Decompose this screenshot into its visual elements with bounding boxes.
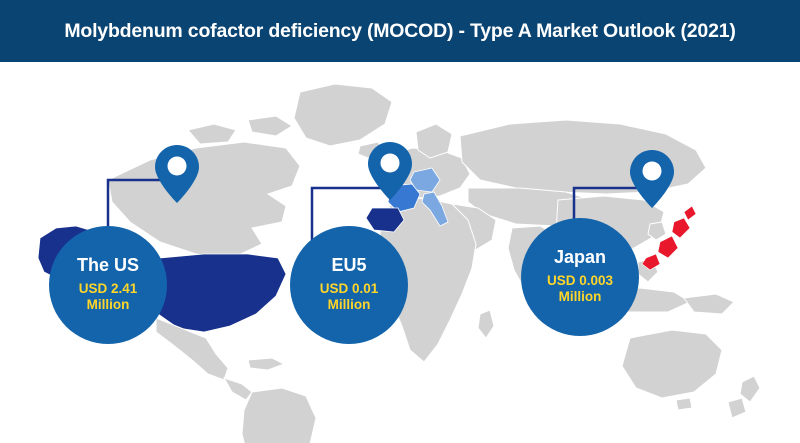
- callout-bubble-japan[interactable]: Japan USD 0.003Million: [521, 218, 639, 336]
- island-arctic-1: [188, 124, 236, 144]
- island-new-zealand: [740, 376, 760, 402]
- callout-region-label: EU5: [331, 256, 366, 276]
- infographic-root: Molybdenum cofactor deficiency (MOCOD) -…: [0, 0, 800, 443]
- continent-south-america: [242, 388, 316, 443]
- island-tasmania: [676, 398, 692, 410]
- pin-japan-icon[interactable]: [630, 150, 674, 208]
- map-stage: The US USD 2.41Million EU5 USD 0.01Milli…: [0, 62, 800, 443]
- callout-value-label: USD 2.41Million: [71, 281, 146, 315]
- region-central-america: [224, 378, 252, 400]
- country-greenland: [294, 84, 392, 146]
- pin-eu5-icon[interactable]: [368, 142, 412, 200]
- island-caribbean: [248, 358, 284, 370]
- island-new-zealand-south: [728, 398, 746, 418]
- callout-value-label: USD 0.01Million: [312, 281, 387, 315]
- continent-australia: [622, 330, 722, 398]
- callout-bubble-us[interactable]: The US USD 2.41Million: [49, 226, 167, 344]
- callout-region-label: Japan: [554, 248, 606, 268]
- page-title: Molybdenum cofactor deficiency (MOCOD) -…: [0, 0, 800, 62]
- pin-us-icon[interactable]: [155, 145, 199, 203]
- island-madagascar: [478, 310, 494, 338]
- callout-bubble-eu5[interactable]: EU5 USD 0.01Million: [290, 226, 408, 344]
- callout-value-label: USD 0.003Million: [539, 273, 621, 307]
- island-new-guinea: [684, 294, 734, 314]
- callout-region-label: The US: [77, 256, 139, 276]
- island-arctic-2: [248, 116, 292, 136]
